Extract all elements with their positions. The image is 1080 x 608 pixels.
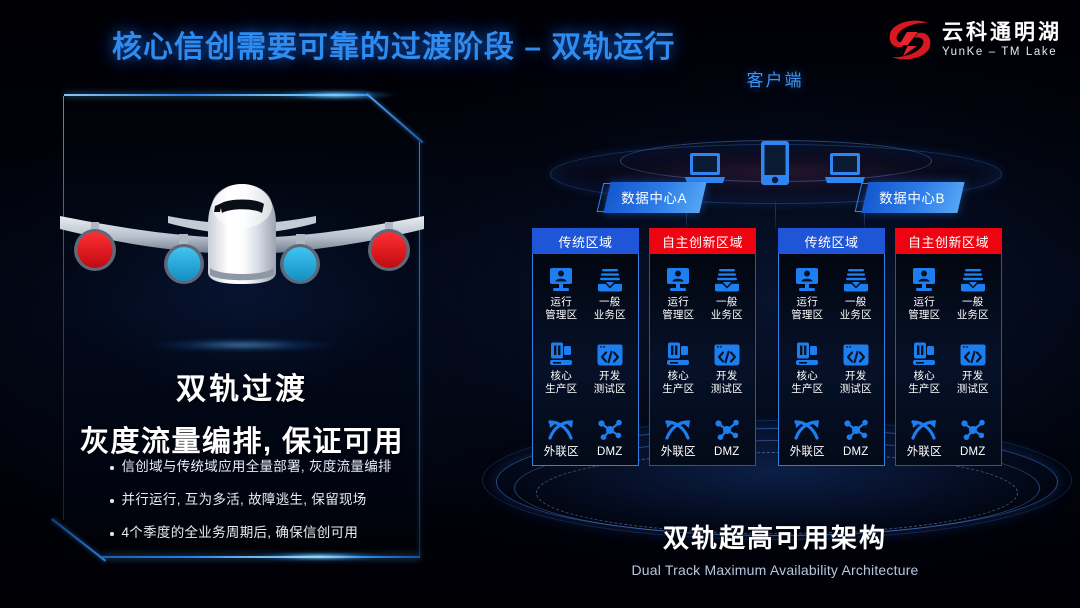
zone-cell-row: 运行 管理区 一般 业务区 — [783, 266, 880, 322]
code-window-icon — [843, 340, 869, 366]
bullet-dot-icon — [110, 499, 114, 503]
server-rack-icon — [794, 340, 820, 366]
zone-cell[interactable]: DMZ — [586, 415, 635, 459]
zone-cell[interactable]: 运行 管理区 — [783, 266, 832, 322]
zone-cell-row: 运行 管理区 一般 业务区 — [900, 266, 997, 322]
zone-column-container: 传统区域 运行 管理区 — [532, 228, 1002, 466]
inbox-tray-icon — [714, 266, 740, 292]
zone-cell-label: 外联区 — [544, 445, 579, 459]
zone-cell[interactable]: 开发 测试区 — [586, 340, 635, 396]
datacenter-badge-label: 数据中心A — [621, 187, 687, 207]
zone-cell[interactable]: 开发 测试区 — [949, 340, 998, 396]
panel-border-corner-topright — [367, 93, 424, 143]
zone-body: 运行 管理区 一般 业务区 — [778, 254, 885, 466]
zone-cell-label: 开发 测试区 — [711, 370, 743, 396]
zone-cell[interactable]: 核心 生产区 — [654, 340, 703, 396]
zone-column-traditional[interactable]: 传统区域 运行 管理区 — [532, 228, 639, 466]
zone-cell[interactable]: DMZ — [832, 415, 881, 459]
zone-cell-label: 开发 测试区 — [594, 370, 626, 396]
zone-cell[interactable]: 核心 生产区 — [537, 340, 586, 396]
architecture-title-en: Dual Track Maximum Availability Architec… — [470, 562, 1080, 578]
zone-body: 运行 管理区 一般 业务区 — [895, 254, 1002, 466]
left-panel-heading: 双轨过渡 灰度流量编排, 保证可用 — [64, 364, 420, 460]
panel-glow-top — [276, 90, 396, 100]
zone-cell-label: 运行 管理区 — [662, 296, 694, 322]
user-monitor-icon — [548, 266, 574, 292]
datacenter-badge-b[interactable]: 数据中心B — [858, 182, 961, 213]
zone-cell-row: 核心 生产区 开发 测试区 — [900, 340, 997, 396]
client-tier-label: 客户端 — [470, 66, 1080, 91]
plane-light-beam — [148, 339, 338, 351]
zone-cell-label: 核心 生产区 — [908, 370, 940, 396]
zone-cell[interactable]: 开发 测试区 — [832, 340, 881, 396]
datacenter-group-b: 传统区域 运行 管理区 — [778, 228, 1002, 466]
zone-column-innovation[interactable]: 自主创新区域 运行 管理区 — [649, 228, 756, 466]
server-rack-icon — [911, 340, 937, 366]
bullet-dot-icon — [110, 532, 114, 536]
left-heading-line2: 灰度流量编排, 保证可用 — [64, 418, 420, 460]
zone-cell-label: 一般 业务区 — [840, 296, 872, 322]
zone-cell-label: 运行 管理区 — [791, 296, 823, 322]
crossing-arrows-icon — [793, 415, 821, 441]
inbox-tray-icon — [960, 266, 986, 292]
architecture-title-block: 双轨超高可用架构 Dual Track Maximum Availability… — [470, 518, 1080, 578]
zone-cell-label: 外联区 — [661, 445, 696, 459]
zone-cell-label: 开发 测试区 — [957, 370, 989, 396]
zone-cell-row: 运行 管理区 一般 业务区 — [537, 266, 634, 322]
laptop-icon — [684, 152, 726, 186]
crossing-arrows-icon — [547, 415, 575, 441]
network-nodes-icon — [960, 415, 986, 441]
inbox-tray-icon — [597, 266, 623, 292]
connector-line — [775, 198, 776, 230]
zone-cell-label: DMZ — [960, 445, 986, 459]
zone-cell-row: 运行 管理区 一般 业务区 — [654, 266, 751, 322]
architecture-title-cn: 双轨超高可用架构 — [470, 518, 1080, 555]
zone-cell-label: 一般 业务区 — [711, 296, 743, 322]
zone-header-label: 自主创新区域 — [895, 228, 1002, 254]
client-device-group — [470, 140, 1080, 186]
tablet-icon — [760, 140, 790, 186]
panel-glow-bottom — [254, 552, 384, 561]
zone-cell-label: 核心 生产区 — [545, 370, 577, 396]
zone-cell[interactable]: 核心 生产区 — [783, 340, 832, 396]
zone-body: 运行 管理区 一般 业务区 — [532, 254, 639, 466]
zone-cell[interactable]: 一般 业务区 — [949, 266, 998, 322]
zone-cell-row: 外联区 DMZ — [900, 415, 997, 459]
crossing-arrows-icon — [910, 415, 938, 441]
zone-cell[interactable]: 开发 测试区 — [703, 340, 752, 396]
bullet-dot-icon — [110, 466, 114, 470]
bullet-text: 并行运行, 互为多活, 故障逃生, 保留现场 — [122, 491, 367, 509]
zone-cell-label: 开发 测试区 — [840, 370, 872, 396]
zone-cell[interactable]: 核心 生产区 — [900, 340, 949, 396]
zone-cell[interactable]: 运行 管理区 — [654, 266, 703, 322]
user-monitor-icon — [665, 266, 691, 292]
zone-cell-row: 外联区 DMZ — [783, 415, 880, 459]
zone-column-innovation[interactable]: 自主创新区域 运行 管理区 — [895, 228, 1002, 466]
user-monitor-icon — [911, 266, 937, 292]
zone-cell[interactable]: 外联区 — [537, 415, 586, 459]
zone-cell-label: 外联区 — [907, 445, 942, 459]
code-window-icon — [960, 340, 986, 366]
list-item: 信创域与传统域应用全量部署, 灰度流量编排 — [110, 458, 420, 476]
datacenter-badge-a[interactable]: 数据中心A — [600, 182, 703, 213]
user-monitor-icon — [794, 266, 820, 292]
panel-border-corner-bottomleft — [52, 518, 107, 561]
zone-header-label: 传统区域 — [778, 228, 885, 254]
network-nodes-icon — [597, 415, 623, 441]
zone-cell[interactable]: 外联区 — [654, 415, 703, 459]
zone-cell-row: 核心 生产区 开发 测试区 — [537, 340, 634, 396]
zone-cell[interactable]: 运行 管理区 — [900, 266, 949, 322]
datacenter-group-a: 传统区域 运行 管理区 — [532, 228, 756, 466]
left-feature-panel: 双轨过渡 灰度流量编排, 保证可用 信创域与传统域应用全量部署, 灰度流量编排 … — [64, 94, 420, 558]
server-rack-icon — [548, 340, 574, 366]
zone-cell-label: 运行 管理区 — [908, 296, 940, 322]
zone-cell-row: 核心 生产区 开发 测试区 — [783, 340, 880, 396]
badge-chip: 数据中心A — [603, 182, 706, 213]
datacenter-badge-label: 数据中心B — [879, 187, 945, 207]
zone-cell[interactable]: 一般 业务区 — [586, 266, 635, 322]
zone-cell-row: 外联区 DMZ — [537, 415, 634, 459]
zone-cell[interactable]: 一般 业务区 — [703, 266, 752, 322]
code-window-icon — [597, 340, 623, 366]
zone-cell-label: 运行 管理区 — [545, 296, 577, 322]
zone-cell-label: DMZ — [714, 445, 740, 459]
zone-cell[interactable]: 一般 业务区 — [832, 266, 881, 322]
list-item: 4个季度的全业务周期后, 确保信创可用 — [110, 524, 420, 542]
zone-cell[interactable]: DMZ — [703, 415, 752, 459]
airplane-front-view-image — [60, 176, 424, 326]
zone-body: 运行 管理区 一般 业务区 — [649, 254, 756, 466]
zone-cell-label: DMZ — [597, 445, 623, 459]
zone-cell-label: 一般 业务区 — [957, 296, 989, 322]
zone-header-label: 自主创新区域 — [649, 228, 756, 254]
inbox-tray-icon — [843, 266, 869, 292]
slide-root: 核心信创需要可靠的过渡阶段 – 双轨运行 云科通明湖 YunKe – TM La… — [0, 0, 1080, 608]
zone-cell-label: 一般 业务区 — [594, 296, 626, 322]
zone-cell-row: 核心 生产区 开发 测试区 — [654, 340, 751, 396]
network-nodes-icon — [714, 415, 740, 441]
zone-cell-label: 核心 生产区 — [662, 370, 694, 396]
laptop-icon — [824, 152, 866, 186]
zone-cell[interactable]: 运行 管理区 — [537, 266, 586, 322]
list-item: 并行运行, 互为多活, 故障逃生, 保留现场 — [110, 491, 420, 509]
badge-chip: 数据中心B — [861, 182, 964, 213]
zone-cell-label: 外联区 — [790, 445, 825, 459]
left-heading-line1: 双轨过渡 — [64, 364, 420, 408]
zone-cell-label: 核心 生产区 — [791, 370, 823, 396]
crossing-arrows-icon — [664, 415, 692, 441]
zone-column-traditional[interactable]: 传统区域 运行 管理区 — [778, 228, 885, 466]
server-rack-icon — [665, 340, 691, 366]
zone-cell-label: DMZ — [843, 445, 869, 459]
bullet-text: 信创域与传统域应用全量部署, 灰度流量编排 — [122, 458, 392, 476]
zone-cell[interactable]: 外联区 — [900, 415, 949, 459]
network-nodes-icon — [843, 415, 869, 441]
bullet-text: 4个季度的全业务周期后, 确保信创可用 — [122, 524, 359, 542]
logo-name-cn: 云科通明湖 — [942, 22, 1062, 44]
zone-cell[interactable]: 外联区 — [783, 415, 832, 459]
left-panel-bullet-list: 信创域与传统域应用全量部署, 灰度流量编排 并行运行, 互为多活, 故障逃生, … — [110, 458, 420, 543]
zone-header-label: 传统区域 — [532, 228, 639, 254]
zone-cell-row: 外联区 DMZ — [654, 415, 751, 459]
zone-cell[interactable]: DMZ — [949, 415, 998, 459]
architecture-diagram: 客户端 — [470, 48, 1080, 608]
datacenter-gap — [756, 228, 778, 466]
code-window-icon — [714, 340, 740, 366]
